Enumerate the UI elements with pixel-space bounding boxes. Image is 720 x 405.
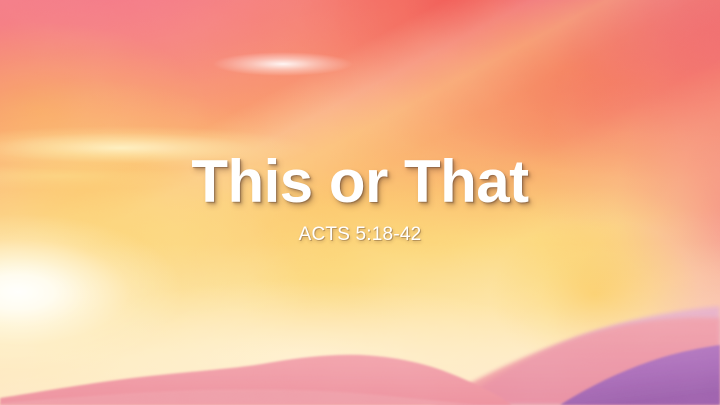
purple-ridge-right bbox=[560, 345, 720, 405]
rose-ridge-right bbox=[430, 318, 720, 405]
pink-ridge-foreground bbox=[0, 389, 480, 405]
title-text-block: This or That ACTS 5:18-42 bbox=[0, 152, 720, 246]
slide-subtitle: ACTS 5:18-42 bbox=[0, 224, 720, 246]
lilac-ridge-right bbox=[452, 306, 720, 405]
pink-ridge-left bbox=[0, 355, 512, 405]
title-slide: This or That ACTS 5:18-42 bbox=[0, 0, 720, 405]
slide-title: This or That bbox=[0, 152, 720, 212]
